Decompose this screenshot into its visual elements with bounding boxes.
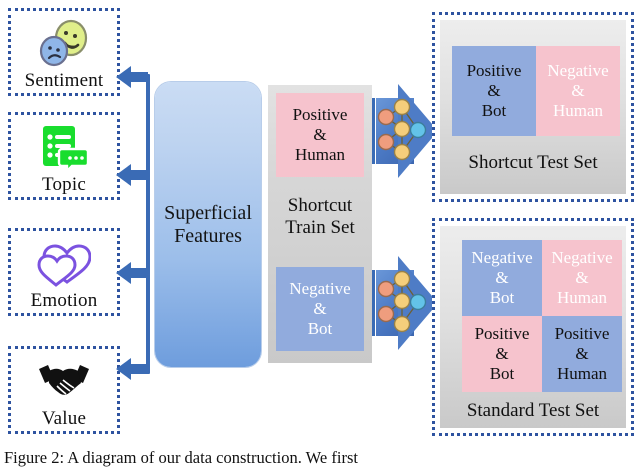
topic-list-icon [33,120,95,176]
test-cell-label: Positive & Bot [467,61,522,120]
shortcut-train-set-panel[interactable]: Positive & Human ShortcutTrain Set Negat… [268,85,372,363]
train-cell-label: Negative & Bot [289,279,350,338]
standard-test-set-panel[interactable]: Negative & Bot Negative & Human Positive… [432,218,634,436]
train-cell-positive-human[interactable]: Positive & Human [276,93,364,177]
test-cell-negative-human[interactable]: Negative & Human [542,240,622,316]
test-cell-label: Positive & Bot [475,324,530,383]
arrow-to-sentiment [130,72,148,82]
test-cell-label: Positive & Human [555,324,610,383]
feature-label: Topic [42,174,86,196]
arrow-to-topic [130,170,148,180]
standard-test-set-caption: Standard Test Set [440,400,626,422]
feature-card-emotion[interactable]: Emotion [8,228,120,316]
neural-net-arrow-bottom [372,256,438,350]
test-cell-positive-human[interactable]: Positive & Human [542,316,622,392]
feature-label: Sentiment [25,70,104,92]
neural-net-nodes-icon [372,256,438,350]
neural-net-nodes-icon [372,84,438,178]
neural-net-arrow-top [372,84,438,178]
test-cell-label: Negative & Bot [471,248,532,307]
sentiment-faces-icon [33,16,95,72]
feature-card-sentiment[interactable]: Sentiment [8,8,120,96]
test-cell-label: Negative & Human [547,61,608,120]
arrow-to-emotion [130,268,148,278]
test-cell-label: Negative & Human [551,248,612,307]
standard-test-set-grid: Negative & Bot Negative & Human Positive… [462,240,622,392]
feature-label: Value [42,408,86,430]
test-cell-negative-bot[interactable]: Negative & Bot [462,240,542,316]
shortcut-test-set-grid: Positive & Bot Negative & Human [452,46,620,136]
superficial-features-label: SuperficialFeatures [164,202,252,247]
feature-bus-line [146,74,150,374]
test-cell-negative-human[interactable]: Negative & Human [536,46,620,136]
train-cell-label: Positive & Human [293,105,348,164]
train-cell-negative-bot[interactable]: Negative & Bot [276,267,364,351]
arrow-to-value [130,364,148,374]
feature-card-topic[interactable]: Topic [8,112,120,200]
superficial-features-panel[interactable]: SuperficialFeatures [155,82,261,367]
test-cell-positive-bot[interactable]: Positive & Bot [462,316,542,392]
test-cell-positive-bot[interactable]: Positive & Bot [452,46,536,136]
emotion-hearts-icon [33,236,95,292]
feature-card-value[interactable]: Value [8,346,120,434]
figure-caption: Figure 2: A diagram of our data construc… [4,448,638,469]
shortcut-train-set-title: ShortcutTrain Set [268,195,372,238]
value-handshake-icon [33,354,95,410]
feature-label: Emotion [31,290,98,312]
shortcut-test-set-caption: Shortcut Test Set [440,152,626,174]
shortcut-test-set-panel[interactable]: Positive & Bot Negative & Human Shortcut… [432,12,634,202]
